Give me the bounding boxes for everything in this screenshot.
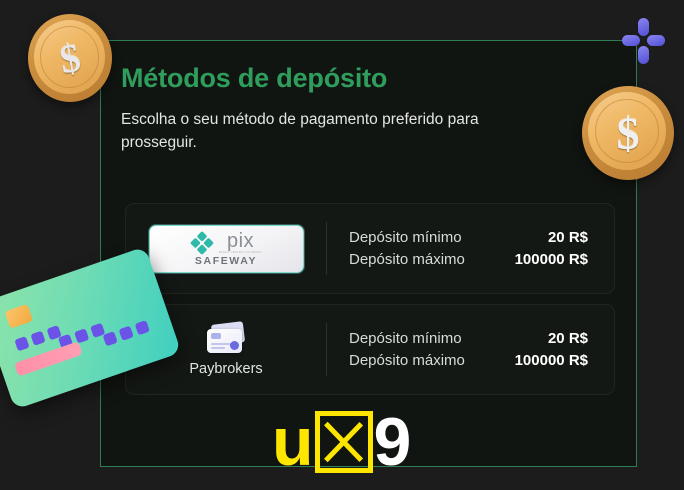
coin-face <box>34 20 105 94</box>
card-line-1 <box>211 343 231 345</box>
payment-method-row-paybrokers[interactable]: ···· Paybrokers Depósito mínimo 20 R$ <box>125 304 615 395</box>
payment-method-row-pix[interactable]: pix BANCO CENTRAL DO BRASIL SAFEWAY Depó… <box>125 203 615 294</box>
pix-diamond-icon <box>190 231 214 255</box>
payment-methods-list: pix BANCO CENTRAL DO BRASIL SAFEWAY Depó… <box>125 203 615 395</box>
pix-max-deposit-value: 100000 R$ <box>515 251 588 268</box>
pix-max-deposit-label: Depósito máximo <box>349 251 465 268</box>
watermark-missing-glyph-box <box>315 411 373 473</box>
watermark-prefix: u <box>272 408 314 476</box>
paybrokers-max-deposit-line: Depósito máximo 100000 R$ <box>349 352 588 369</box>
paybrokers-min-deposit-value: 20 R$ <box>548 330 588 347</box>
paybrokers-max-deposit-label: Depósito máximo <box>349 352 465 369</box>
pix-wordmark: pix <box>227 231 254 251</box>
pix-safeway-label: SAFEWAY <box>195 256 257 267</box>
card-chip <box>5 304 34 329</box>
pix-min-deposit-line: Depósito mínimo 20 R$ <box>349 229 588 246</box>
screen-root: Métodos de depósito Escolha o seu método… <box>0 0 684 490</box>
pix-limits-block: Depósito mínimo 20 R$ Depósito máximo 10… <box>327 229 614 268</box>
card-band <box>211 333 221 339</box>
paybrokers-min-deposit-label: Depósito mínimo <box>349 330 462 347</box>
card-logo-dot <box>230 341 239 350</box>
paybrokers-max-deposit-value: 100000 R$ <box>515 352 588 369</box>
watermark-suffix: 9 <box>374 408 412 476</box>
page-title: Métodos de depósito <box>121 63 614 94</box>
coin-rim <box>40 26 99 88</box>
paybrokers-limits-block: Depósito mínimo 20 R$ Depósito máximo 10… <box>327 330 614 369</box>
pix-max-deposit-line: Depósito máximo 100000 R$ <box>349 251 588 268</box>
credit-cards-icon: ···· <box>205 323 247 355</box>
card-stripe <box>14 341 83 376</box>
paybrokers-brand-block: ···· Paybrokers <box>126 323 326 377</box>
card-number-dots: ···· <box>229 332 238 337</box>
card-number-group-2 <box>58 323 105 349</box>
paybrokers-min-deposit-line: Depósito mínimo 20 R$ <box>349 330 588 347</box>
paybrokers-label: Paybrokers <box>189 361 262 377</box>
pix-min-deposit-value: 20 R$ <box>548 229 588 246</box>
card-line-2 <box>211 347 225 349</box>
card-number-group-1 <box>14 325 61 351</box>
pix-brand-block: pix BANCO CENTRAL DO BRASIL SAFEWAY <box>126 225 326 273</box>
deposit-methods-panel: Métodos de depósito Escolha o seu método… <box>100 40 637 467</box>
watermark-overlay: u 9 <box>272 404 411 480</box>
pix-min-deposit-label: Depósito mínimo <box>349 229 462 246</box>
pix-logo-tile: pix BANCO CENTRAL DO BRASIL SAFEWAY <box>149 225 304 273</box>
card-front-shape: ···· <box>207 329 242 353</box>
page-subtitle: Escolha o seu método de pagamento prefer… <box>121 108 557 155</box>
pix-logo-row: pix BANCO CENTRAL DO BRASIL <box>190 231 262 255</box>
